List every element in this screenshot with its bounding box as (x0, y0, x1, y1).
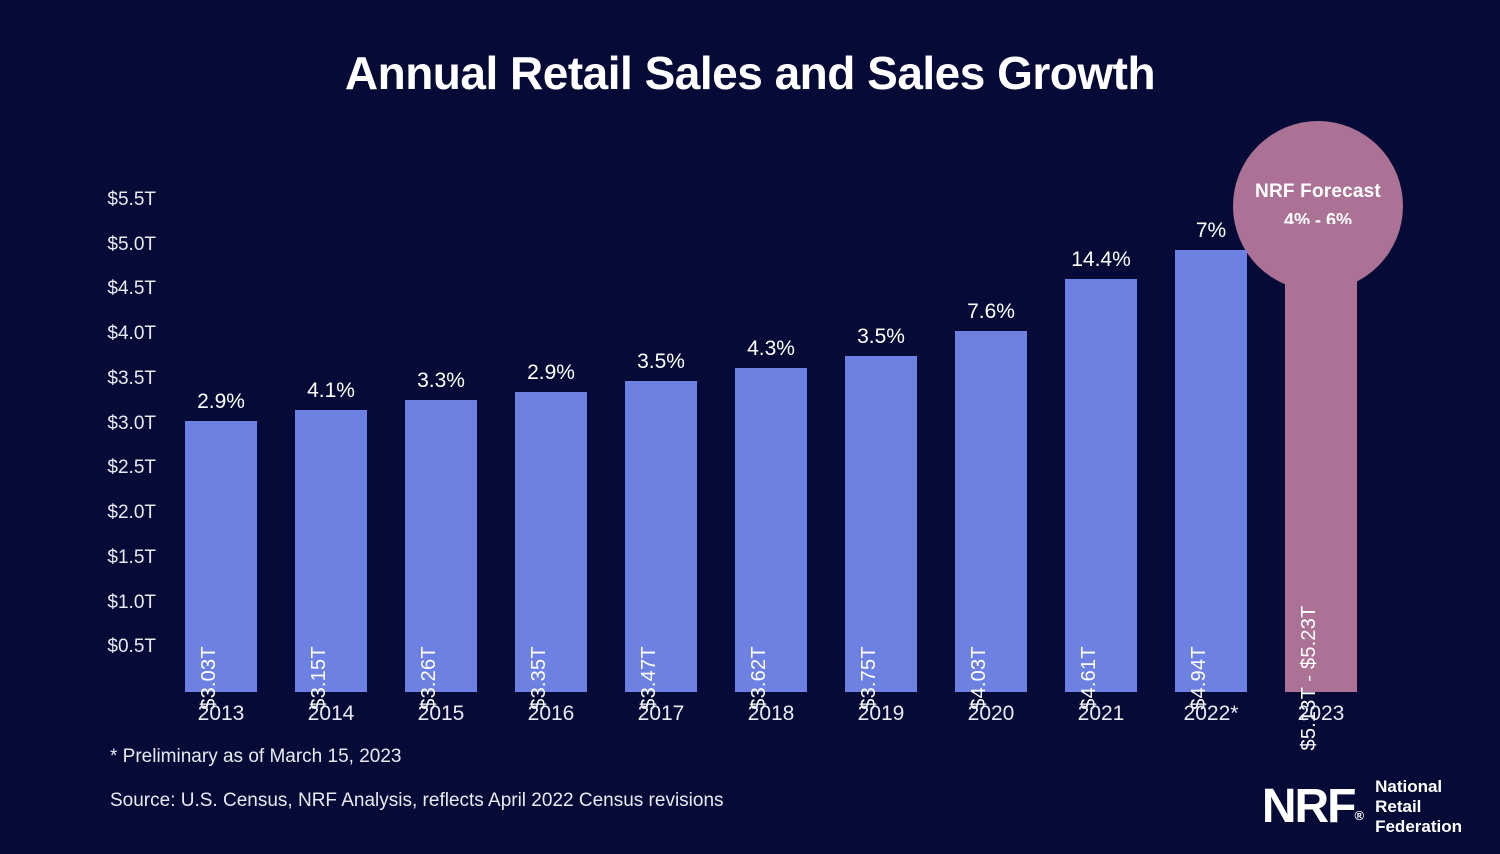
bar[interactable]: $3.35T (515, 392, 587, 692)
growth-rate-label: 4.1% (307, 379, 355, 403)
growth-rate-label: 2.9% (527, 361, 575, 385)
y-axis-tick-label: $4.0T (107, 323, 156, 345)
y-axis: $0.5T$1.0T$1.5T$2.0T$2.5T$3.0T$3.5T$4.0T… (0, 0, 178, 854)
nrf-logo-letters: NRF (1262, 780, 1355, 833)
bar-group: $3.75T3.5%2019 (845, 0, 917, 854)
bar-value-label: $4.61T (1078, 646, 1101, 709)
bar-value-label: $3.47T (638, 646, 661, 709)
bar-value-label: $3.15T (308, 646, 331, 709)
chart-canvas: Annual Retail Sales and Sales Growth NRF… (0, 0, 1500, 854)
growth-rate-label: 3.5% (637, 350, 685, 374)
x-axis-tick-label: 2023 (1298, 702, 1345, 726)
bar-value-label: $3.35T (528, 646, 551, 709)
footnote-source: Source: U.S. Census, NRF Analysis, refle… (110, 790, 724, 812)
bar-value-label: $4.03T (968, 646, 991, 709)
x-axis-tick-label: 2021 (1078, 702, 1125, 726)
bar-group: $4.94T7%2022* (1175, 0, 1247, 854)
growth-rate-label: 7% (1196, 219, 1226, 243)
bar[interactable]: $3.62T (735, 368, 807, 692)
bar-group: $5.13T - $5.23T2023 (1285, 0, 1357, 854)
x-axis-tick-label: 2015 (418, 702, 465, 726)
x-axis-tick-label: 2018 (748, 702, 795, 726)
x-axis-tick-label: 2013 (198, 702, 245, 726)
y-axis-tick-label: $0.5T (107, 636, 156, 658)
growth-rate-label: 4.3% (747, 337, 795, 361)
y-axis-tick-label: $5.5T (107, 189, 156, 211)
growth-rate-label: 3.5% (857, 325, 905, 349)
x-axis-tick-label: 2019 (858, 702, 905, 726)
bar[interactable]: $3.47T (625, 381, 697, 692)
bar-group: $3.26T3.3%2015 (405, 0, 477, 854)
bar[interactable]: $4.94T (1175, 250, 1247, 692)
growth-rate-label: 2.9% (197, 390, 245, 414)
y-axis-tick-label: $5.0T (107, 234, 156, 256)
bar-value-label: $3.62T (748, 646, 771, 709)
y-axis-tick-label: $1.0T (107, 592, 156, 614)
plot-area: $3.03T2.9%2013$3.15T4.1%2014$3.26T3.3%20… (178, 0, 1418, 854)
x-axis-tick-label: 2014 (308, 702, 355, 726)
x-axis-tick-label: 2017 (638, 702, 685, 726)
nrf-logo: NRF® National Retail Federation (1262, 777, 1462, 837)
y-axis-tick-label: $3.5T (107, 368, 156, 390)
bar[interactable]: $3.75T (845, 356, 917, 692)
bar-group: $3.47T3.5%2017 (625, 0, 697, 854)
bar-group: $3.03T2.9%2013 (185, 0, 257, 854)
growth-rate-label: 3.3% (417, 369, 465, 393)
bar-value-label: $3.03T (198, 646, 221, 709)
bar-value-label: $3.26T (418, 646, 441, 709)
bar-value-label: $4.94T (1188, 646, 1211, 709)
bar[interactable]: $3.15T (295, 410, 367, 692)
y-axis-tick-label: $2.5T (107, 457, 156, 479)
y-axis-tick-label: $3.0T (107, 413, 156, 435)
x-axis-tick-label: 2020 (968, 702, 1015, 726)
growth-rate-label: 14.4% (1071, 248, 1131, 272)
bar-group: $3.62T4.3%2018 (735, 0, 807, 854)
bar-group: $4.03T7.6%2020 (955, 0, 1027, 854)
x-axis-tick-label: 2022* (1184, 702, 1239, 726)
footnote-preliminary: * Preliminary as of March 15, 2023 (110, 746, 401, 768)
nrf-logo-line1: National (1375, 777, 1462, 797)
growth-rate-label: 7.6% (967, 300, 1015, 324)
nrf-logo-wordmark: National Retail Federation (1375, 777, 1462, 837)
x-axis-tick-label: 2016 (528, 702, 575, 726)
bar-group: $3.15T4.1%2014 (295, 0, 367, 854)
bar[interactable]: $3.03T (185, 421, 257, 692)
nrf-logo-line2: Retail (1375, 797, 1462, 817)
registered-icon: ® (1355, 808, 1363, 823)
bar-value-label: $5.13T - $5.23T (1298, 606, 1321, 751)
bar[interactable]: $4.03T (955, 331, 1027, 692)
bar[interactable]: $5.13T - $5.23T (1285, 224, 1357, 692)
bar-value-label: $3.75T (858, 646, 881, 709)
y-axis-tick-label: $4.5T (107, 278, 156, 300)
y-axis-tick-label: $1.5T (107, 547, 156, 569)
bar[interactable]: $4.61T (1065, 279, 1137, 692)
bar[interactable]: $3.26T (405, 400, 477, 692)
y-axis-tick-label: $2.0T (107, 502, 156, 524)
bar-group: $4.61T14.4%2021 (1065, 0, 1137, 854)
nrf-logo-mark: NRF® (1262, 783, 1362, 831)
nrf-logo-line3: Federation (1375, 817, 1462, 837)
bar-group: $3.35T2.9%2016 (515, 0, 587, 854)
